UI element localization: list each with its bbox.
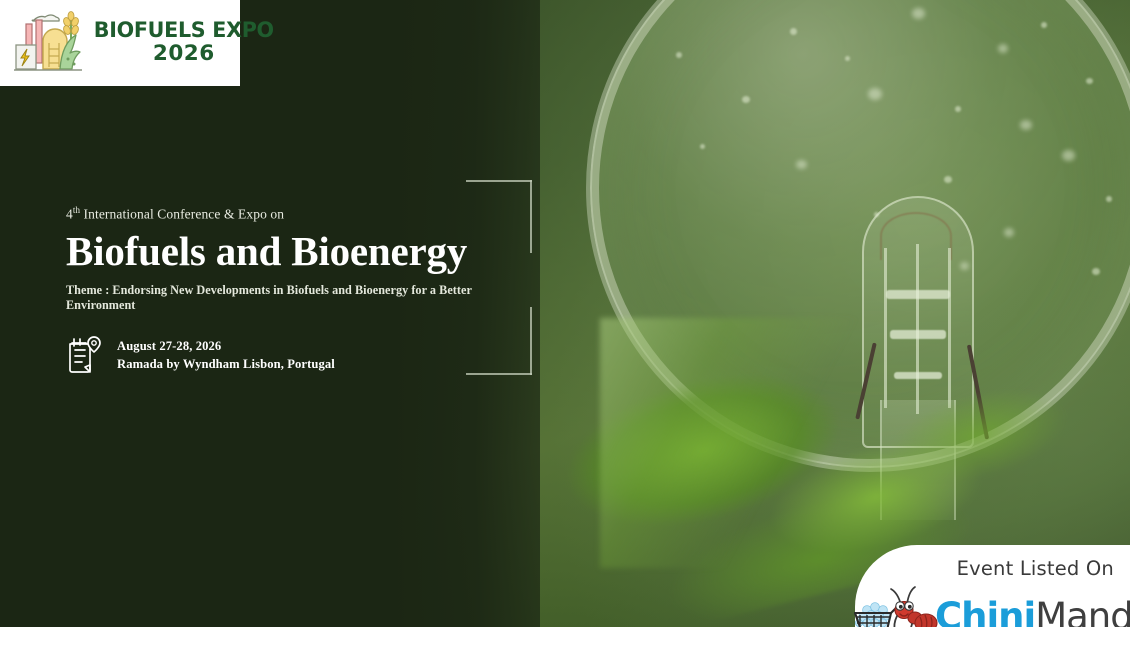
bokeh-speck xyxy=(845,56,850,61)
moss-highlight-edge xyxy=(600,318,900,568)
event-meta: August 27-28, 2026 Ramada by Wyndham Lis… xyxy=(66,335,536,375)
event-logo-wordmark: BIOFUELS EXPO 2026 xyxy=(90,20,278,66)
event-theme: Theme : Endorsing New Developments in Bi… xyxy=(66,283,536,313)
bokeh-speck xyxy=(796,160,807,169)
bokeh-speck xyxy=(1020,120,1032,130)
bokeh-speck xyxy=(1092,268,1100,275)
bokeh-speck xyxy=(944,176,952,183)
logo-line-1: BIOFUELS EXPO xyxy=(94,20,274,43)
frame-line-top xyxy=(466,180,532,182)
bokeh-speck xyxy=(1086,78,1093,84)
bokeh-speck xyxy=(1106,196,1112,202)
bokeh-speck xyxy=(868,88,882,100)
hero-text-block: 4th International Conference & Expo on B… xyxy=(66,205,536,375)
bokeh-speck xyxy=(955,106,961,112)
bottom-white-strip xyxy=(0,627,1130,650)
event-date: August 27-28, 2026 xyxy=(117,339,335,354)
bokeh-speck xyxy=(676,52,682,58)
kicker-number: 4 xyxy=(66,207,73,222)
page-title: Biofuels and Bioenergy xyxy=(66,229,536,275)
event-venue: Ramada by Wyndham Lisbon, Portugal xyxy=(117,357,335,372)
logo-line-2: 2026 xyxy=(153,42,215,66)
kicker-text: International Conference & Expo on xyxy=(80,207,284,222)
event-edition-kicker: 4th International Conference & Expo on xyxy=(66,205,536,223)
event-logo-badge[interactable]: BIOFUELS EXPO 2026 xyxy=(0,0,240,86)
note-location-icon xyxy=(66,335,104,375)
listed-on-label: Event Listed On xyxy=(957,557,1114,580)
kicker-ordinal: th xyxy=(73,205,80,215)
bokeh-speck xyxy=(742,96,750,103)
bokeh-speck xyxy=(1041,22,1047,28)
bokeh-speck xyxy=(998,44,1008,53)
bokeh-speck xyxy=(700,144,705,149)
bokeh-speck xyxy=(790,28,797,35)
bokeh-speck xyxy=(1062,150,1075,161)
banner-stage: BIOFUELS EXPO 2026 4th International Con… xyxy=(0,0,1130,650)
bokeh-speck xyxy=(912,8,925,19)
bokeh-speck xyxy=(1004,228,1014,237)
event-meta-lines: August 27-28, 2026 Ramada by Wyndham Lis… xyxy=(117,339,335,372)
biofuel-plant-icon xyxy=(10,7,84,79)
